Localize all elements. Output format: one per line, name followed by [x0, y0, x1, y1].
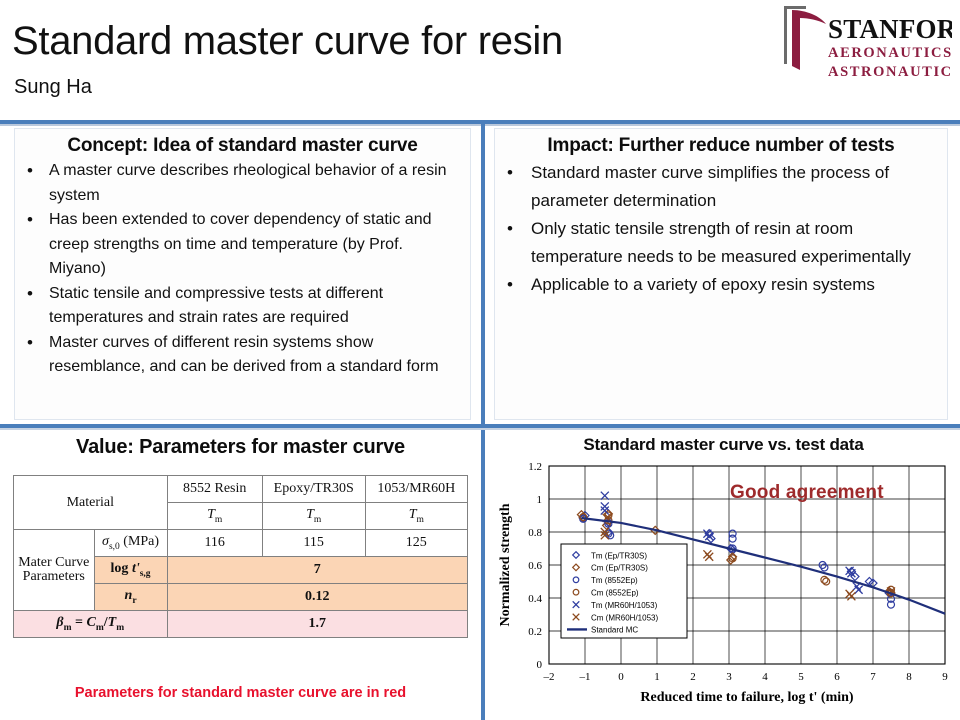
svg-text:7: 7 [870, 671, 876, 683]
svg-text:4: 4 [762, 671, 768, 683]
chart-title: Standard master curve vs. test data [487, 435, 960, 455]
master-curve-chart: –2–1012345678900.20.40.60.811.2Reduced t… [487, 456, 960, 718]
svg-text:Tm (Ep/TR30S): Tm (Ep/TR30S) [591, 551, 647, 560]
list-item: A master curve describes rheological beh… [21, 159, 464, 208]
slide-header: Standard master curve for resin Sung Ha … [0, 0, 960, 122]
param-value: 1.7 [167, 611, 467, 638]
svg-text:0.2: 0.2 [528, 626, 542, 638]
parameters-table: Material 8552 Resin Epoxy/TR30S 1053/MR6… [13, 475, 468, 638]
svg-text:3: 3 [726, 671, 732, 683]
param-value: 115 [262, 530, 365, 557]
svg-text:9: 9 [942, 671, 948, 683]
svg-text:Cm (8552Ep): Cm (8552Ep) [591, 589, 639, 598]
list-item: Has been extended to cover dependency of… [21, 208, 464, 282]
red-parameters-note: Parameters for standard master curve are… [0, 685, 481, 701]
vertical-divider [481, 120, 485, 720]
svg-text:1.2: 1.2 [528, 461, 542, 473]
svg-text:Reduced time to failure, log t: Reduced time to failure, log t' (min) [640, 690, 854, 705]
good-agreement-annotation: Good agreement [730, 482, 884, 504]
table-row: Mater Curve Parameters σs,0 (MPa) 116 11… [14, 530, 468, 557]
param-value: 116 [167, 530, 262, 557]
svg-text:8: 8 [906, 671, 912, 683]
list-item: Standard master curve simplifies the pro… [501, 159, 941, 215]
param-group-line1: Mater Curve [18, 555, 89, 570]
svg-text:1: 1 [537, 494, 543, 506]
param-label-logt: log t's,g [94, 557, 167, 584]
impact-heading: Impact: Further reduce number of tests [495, 135, 947, 157]
list-item: Only static tensile strength of resin at… [501, 215, 941, 271]
column-header: 8552 Resin [167, 476, 262, 503]
svg-text:Cm (Ep/TR30S): Cm (Ep/TR30S) [591, 564, 648, 573]
param-label-nr: nr [94, 584, 167, 611]
svg-text:2: 2 [690, 671, 696, 683]
svg-text:Tm (8552Ep): Tm (8552Ep) [591, 576, 638, 585]
column-subheader: Tm [167, 503, 262, 530]
svg-text:Standard MC: Standard MC [591, 626, 638, 635]
value-panel: Value: Parameters for master curve Mater… [0, 430, 481, 720]
svg-text:STANFORD: STANFORD [828, 14, 952, 44]
svg-text:6: 6 [834, 671, 840, 683]
param-label-beta: βm = Cm/Tm [14, 611, 168, 638]
chart-panel: Standard master curve vs. test data –2–1… [487, 430, 960, 720]
svg-text:0: 0 [537, 659, 543, 671]
list-item: Static tensile and compressive tests at … [21, 282, 464, 331]
svg-text:0.8: 0.8 [528, 527, 542, 539]
author-name: Sung Ha [14, 75, 92, 99]
param-group-line2: Parameters [23, 569, 85, 584]
list-item: Applicable to a variety of epoxy resin s… [501, 271, 941, 299]
impact-bullet-list: Standard master curve simplifies the pro… [495, 159, 947, 299]
svg-text:–1: –1 [579, 671, 591, 683]
param-value: 7 [167, 557, 467, 584]
svg-text:0.4: 0.4 [528, 593, 542, 605]
svg-text:Normalized strength: Normalized strength [498, 503, 513, 626]
material-header: Material [14, 476, 168, 530]
table-row: βm = Cm/Tm 1.7 [14, 611, 468, 638]
svg-text:AERONAUTICS &: AERONAUTICS & [828, 45, 952, 61]
column-subheader: Tm [262, 503, 365, 530]
concept-box: Concept: Idea of standard master curve A… [14, 128, 471, 420]
concept-heading: Concept: Idea of standard master curve [15, 135, 470, 157]
column-header: 1053/MR60H [365, 476, 467, 503]
svg-text:–2: –2 [543, 671, 555, 683]
param-value: 125 [365, 530, 467, 557]
column-header: Epoxy/TR30S [262, 476, 365, 503]
svg-text:0.6: 0.6 [528, 560, 542, 572]
concept-bullet-list: A master curve describes rheological beh… [15, 159, 470, 380]
table-row: Material 8552 Resin Epoxy/TR30S 1053/MR6… [14, 476, 468, 503]
param-value: 0.12 [167, 584, 467, 611]
svg-text:1: 1 [654, 671, 660, 683]
svg-text:0: 0 [618, 671, 624, 683]
list-item: Master curves of different resin systems… [21, 331, 464, 380]
svg-text:5: 5 [798, 671, 804, 683]
column-subheader: Tm [365, 503, 467, 530]
svg-text:ASTRONAUTICS: ASTRONAUTICS [828, 64, 952, 80]
value-heading: Value: Parameters for master curve [0, 436, 481, 459]
header-divider-shadow [0, 124, 960, 126]
slide-root: Standard master curve for resin Sung Ha … [0, 0, 960, 720]
impact-box: Impact: Further reduce number of tests S… [494, 128, 948, 420]
stanford-aa-logo: STANFORD AERONAUTICS & ASTRONAUTICS [780, 4, 952, 90]
page-title: Standard master curve for resin [12, 18, 563, 64]
svg-text:Tm (MR60H/1053): Tm (MR60H/1053) [591, 601, 658, 610]
param-group-label: Mater Curve Parameters [14, 530, 95, 611]
param-label-sigma: σs,0 (MPa) [94, 530, 167, 557]
svg-text:Cm (MR60H/1053): Cm (MR60H/1053) [591, 613, 658, 622]
